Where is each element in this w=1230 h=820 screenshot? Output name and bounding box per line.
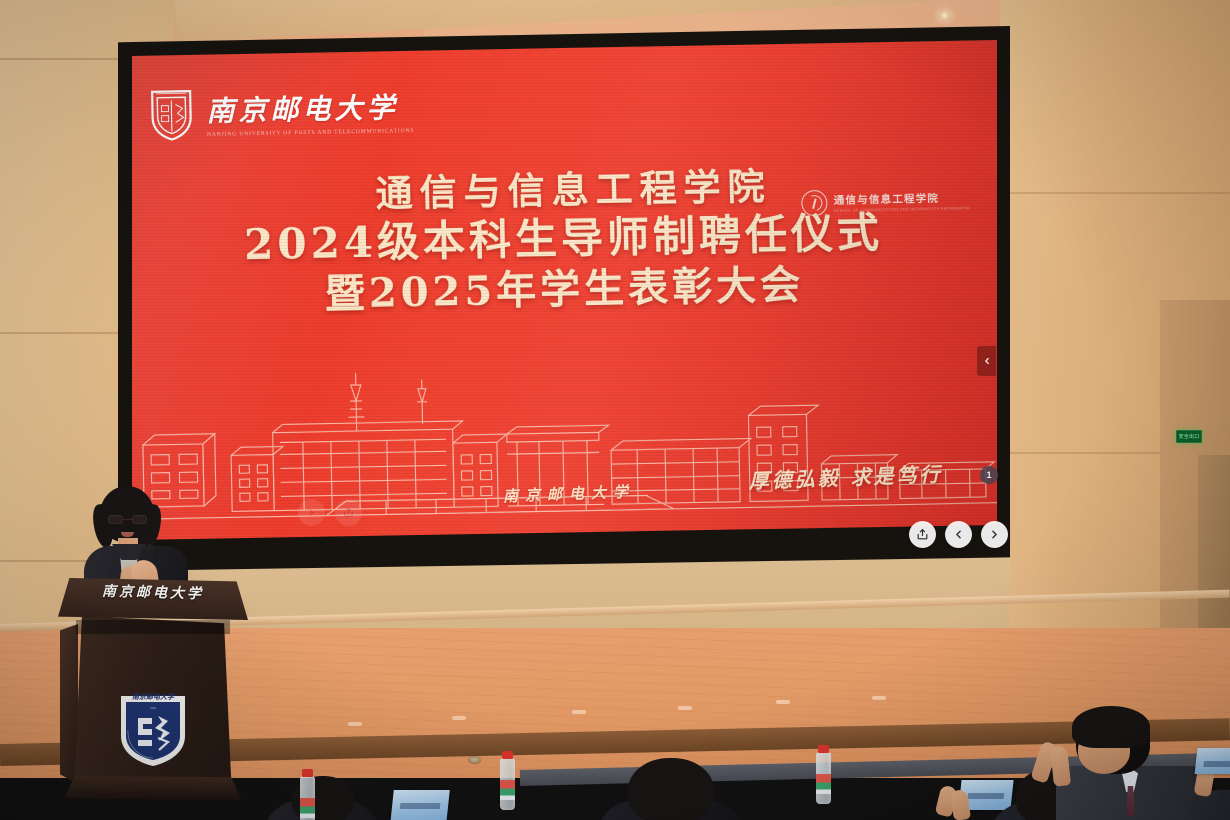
wall-seam (1000, 192, 1230, 194)
exit-sign-label: 安全出口 (1179, 433, 1200, 440)
floor-marker (776, 700, 790, 704)
floor-marker (872, 696, 886, 700)
reflection-share-icon (335, 499, 362, 526)
university-name-en: NANJING UNIVERSITY OF POSTS AND TELECOMM… (207, 128, 414, 138)
podium-base (64, 776, 242, 800)
name-card-text (400, 803, 441, 809)
exit-sign: 安全出口 (1176, 430, 1202, 443)
audience-hair (1072, 706, 1150, 748)
speaker-glasses (108, 515, 148, 524)
water-bottle (816, 752, 831, 804)
glasses-bridge (123, 519, 132, 520)
control-reflection (298, 499, 362, 526)
slide-title-line-3: 暨2025年学生表彰大会 (132, 260, 997, 321)
university-name-cn: 南京邮电大学 (206, 86, 414, 130)
right-wall-recess-inner (1198, 455, 1230, 655)
bottle-cap (302, 769, 313, 777)
svg-text:南京邮电大学: 南京邮电大学 (132, 692, 175, 701)
university-lockup: 南京邮电大学 NANJING UNIVERSITY OF POSTS AND T… (148, 83, 414, 142)
water-bottle (500, 758, 515, 810)
prev-button[interactable] (945, 521, 972, 548)
university-wordmark: 南京邮电大学 NANJING UNIVERSITY OF POSTS AND T… (206, 86, 414, 138)
name-card (390, 790, 450, 820)
floor-marker (572, 710, 586, 714)
name-card-text (1203, 761, 1230, 767)
shield-crest-icon (148, 87, 195, 142)
floor-marker (452, 716, 466, 720)
svg-text:1942: 1942 (150, 706, 157, 710)
podium-shadow-band (76, 620, 230, 634)
auditorium-photo: 安全出口 南京邮电大学 NANJING (0, 0, 1230, 820)
slide-content: 南京邮电大学 NANJING UNIVERSITY OF POSTS AND T… (132, 40, 997, 540)
floor-marker (348, 722, 362, 726)
floor-outlet (468, 756, 481, 763)
page-indicator[interactable]: 1 (980, 466, 998, 484)
podium-emblem: 南京邮电大学 1942 (116, 690, 190, 768)
bottle-label (500, 780, 515, 800)
water-bottle (300, 776, 315, 820)
audience-head (628, 758, 714, 820)
floor-marker (678, 706, 692, 710)
podium: 南京邮电大学 南京邮电大学 1942 (58, 578, 248, 820)
side-panel-toggle[interactable] (977, 346, 996, 376)
ceiling-downlight (940, 12, 949, 19)
bottle-label (300, 798, 315, 818)
bottle-cap (502, 751, 513, 759)
viewer-controls[interactable] (909, 521, 1008, 548)
name-card-text (968, 793, 1005, 799)
glasses-lens-right (132, 515, 147, 524)
bottle-cap (818, 745, 829, 753)
glasses-lens-left (108, 515, 123, 524)
bottle-label (816, 774, 831, 794)
podium-side-panel (60, 624, 78, 784)
reflection-chevron-right-icon (298, 499, 325, 526)
name-card (1195, 748, 1230, 774)
led-screen: 南京邮电大学 NANJING UNIVERSITY OF POSTS AND T… (132, 40, 997, 540)
share-button[interactable] (909, 521, 936, 548)
slide-title-block: 通信与信息工程学院 2024级本科生导师制聘任仪式 暨2025年学生表彰大会 (132, 162, 997, 322)
next-button[interactable] (981, 521, 1008, 548)
microphone-head (146, 544, 154, 552)
